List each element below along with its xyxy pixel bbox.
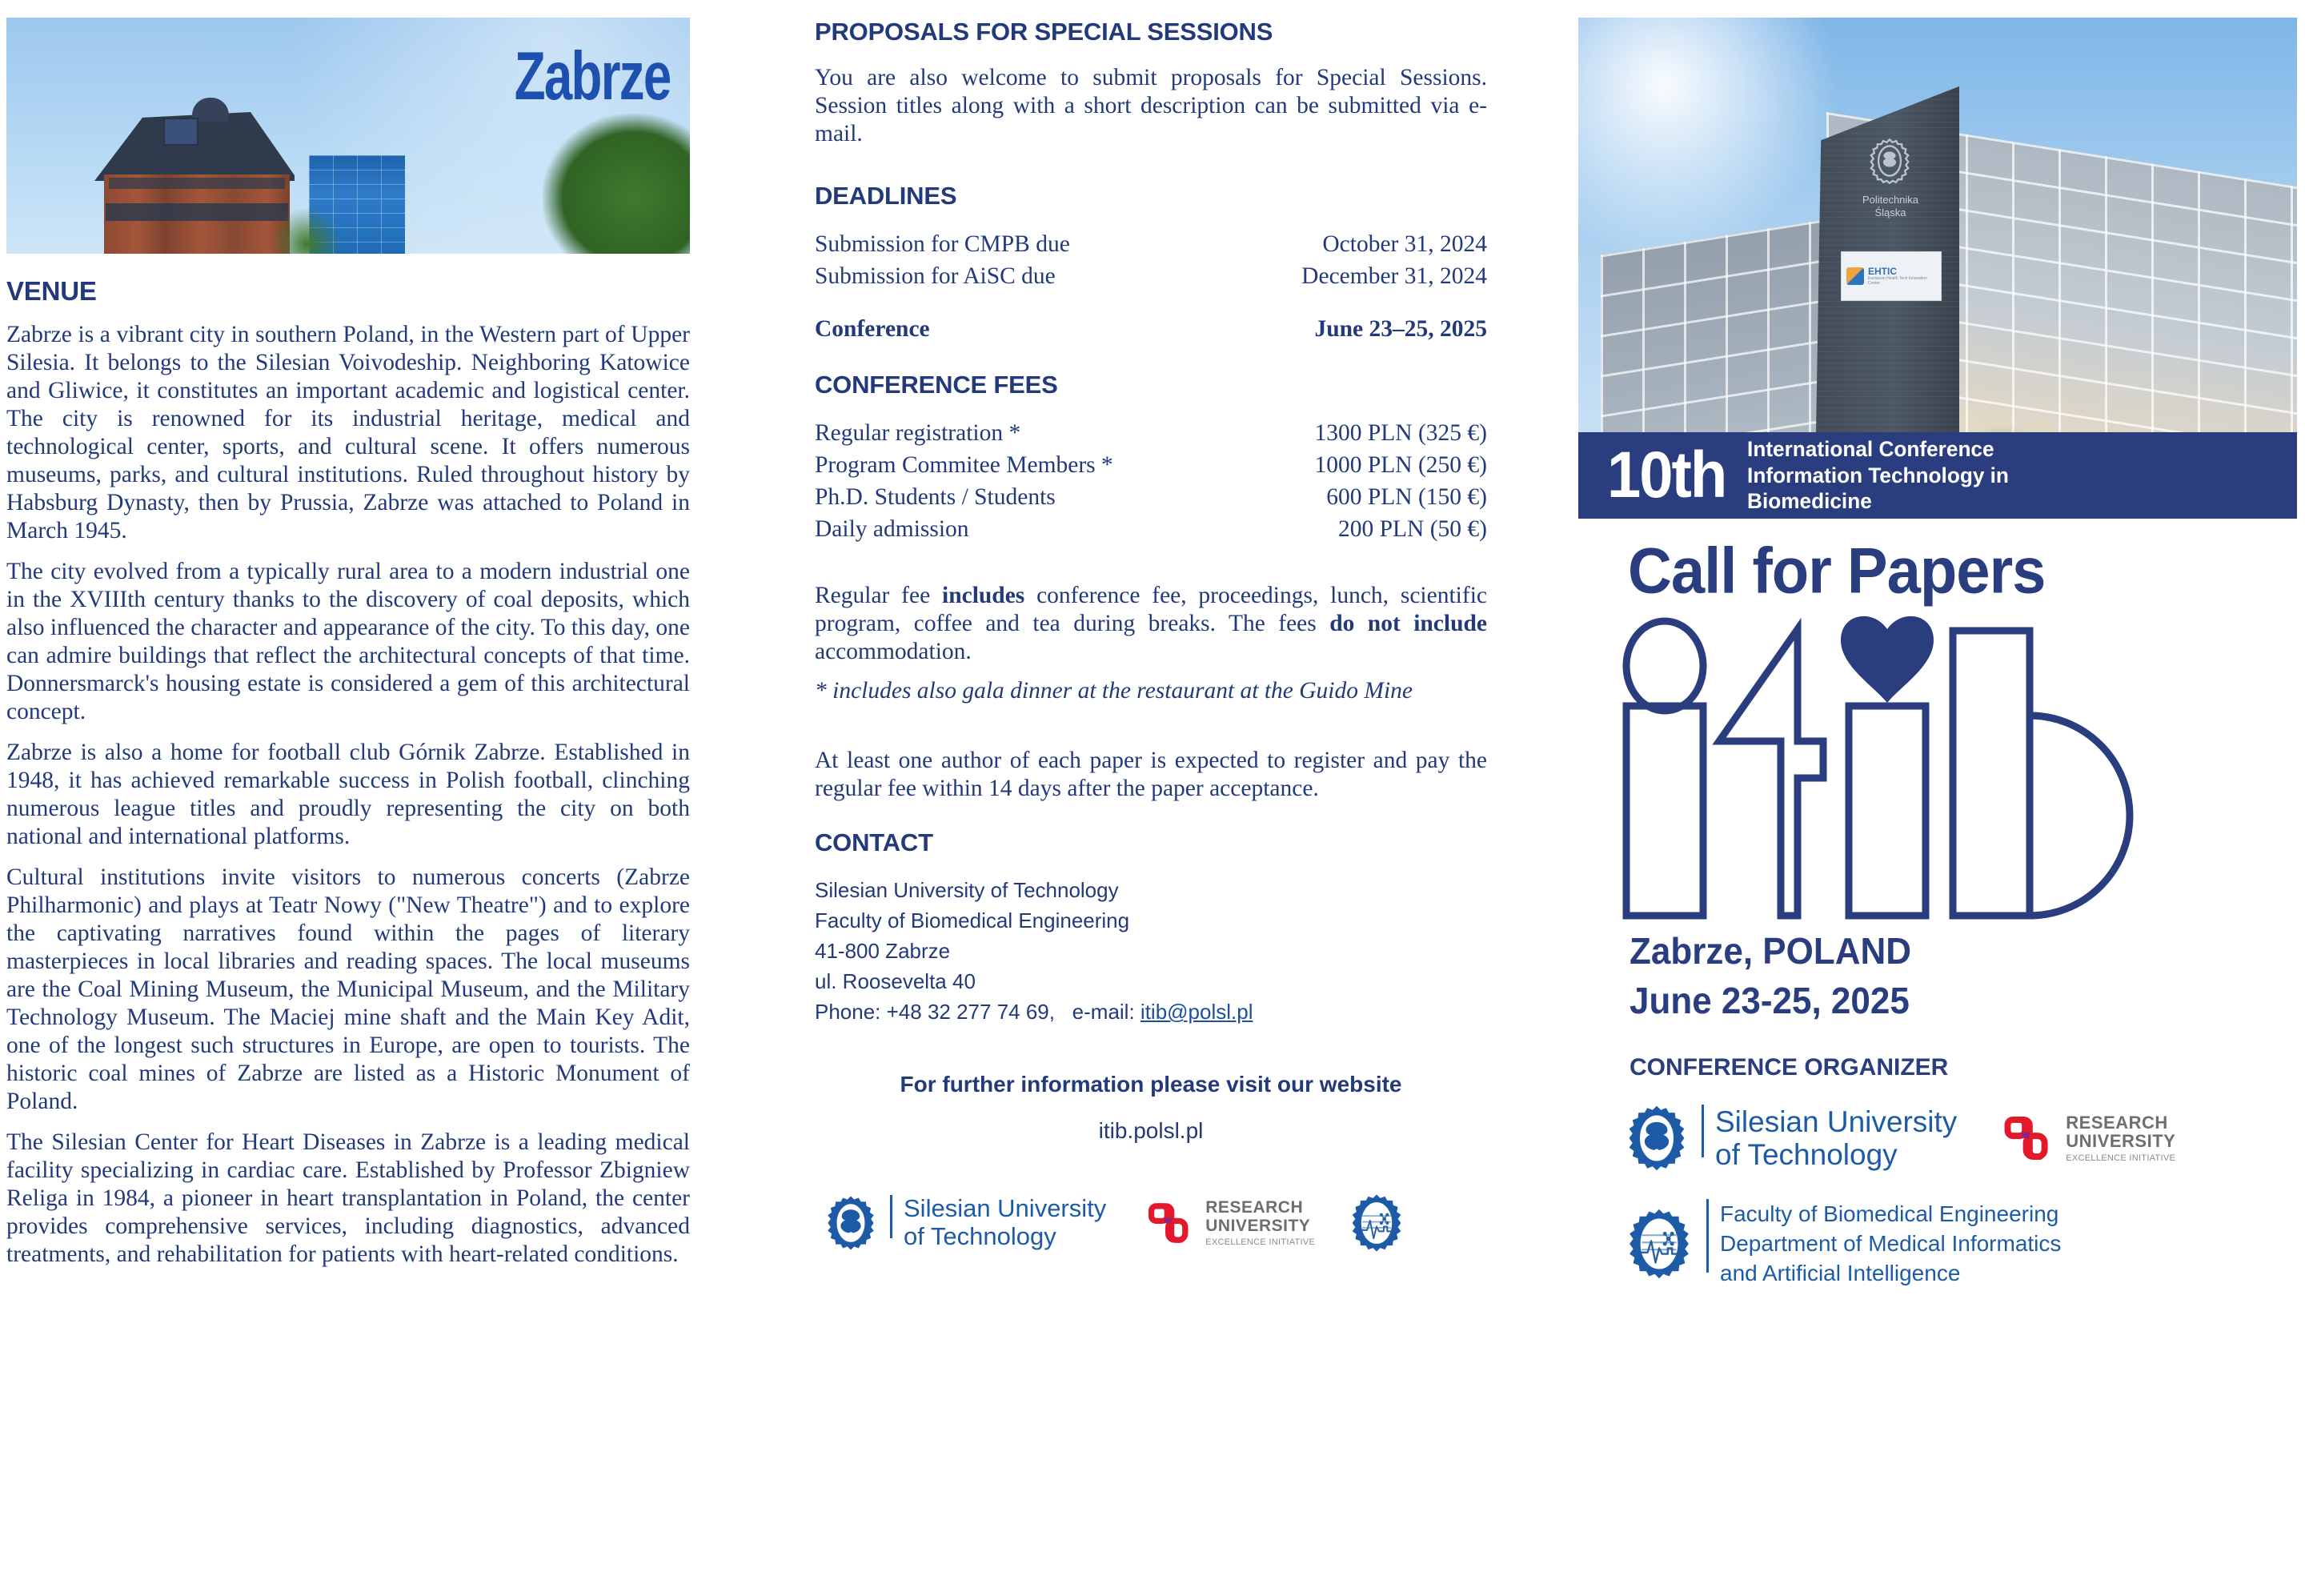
contact-line: Silesian University of Technology (815, 875, 1487, 905)
organizer-logo-group: Silesian University of Technology RESEAR… (1623, 1105, 2295, 1289)
building-sign-text: Politechnika Śląska (1842, 194, 1938, 220)
itib-i-dot-outline (1626, 621, 1703, 711)
sut-logo-line2: of Technology (1715, 1138, 1957, 1171)
fee-row: Regular registration * 1300 PLN (325 €) (815, 417, 1487, 449)
tower-lower-balcony-shape (106, 203, 288, 221)
fee-value: 1000 PLN (250 €) (1241, 449, 1487, 481)
gala-dinner-note: * includes also gala dinner at the resta… (815, 677, 1487, 705)
venue-paragraph: Cultural institutions invite visitors to… (6, 864, 690, 1116)
venue-paragraph-list: Zabrze is a vibrant city in southern Pol… (6, 321, 690, 1269)
fee-row: Ph.D. Students / Students 600 PLN (150 €… (815, 481, 1487, 513)
deadlines-heading: DEADLINES (815, 182, 1487, 211)
includes-text-3: accommodation. (815, 639, 972, 664)
fee-includes-paragraph: Regular fee includes conference fee, pro… (815, 582, 1487, 666)
author-registration-note: At least one author of each paper is exp… (815, 747, 1487, 803)
fees-table: Regular registration * 1300 PLN (325 €) … (815, 417, 1487, 545)
conference-title: International Conference Information Tec… (1747, 436, 2009, 515)
deadline-row: Submission for AiSC due December 31, 202… (815, 260, 1487, 292)
edition-number: 10th (1607, 443, 1726, 508)
contact-heading: CONTACT (815, 828, 1487, 857)
proposals-body: You are also welcome to submit proposals… (815, 64, 1487, 148)
venue-paragraph: Zabrze is a vibrant city in southern Pol… (6, 321, 690, 545)
deadline-label: Submission for CMPB due (815, 228, 1204, 260)
ru-line2: UNIVERSITY (1205, 1217, 1315, 1235)
ru-sub: EXCELLENCE INITIATIVE (2066, 1153, 2175, 1163)
faculty-logo-text: Faculty of Biomedical Engineering Depart… (1720, 1199, 2061, 1289)
sut-logo-line1: Silesian University (1715, 1105, 1957, 1138)
ru-line1: RESEARCH (1205, 1199, 1315, 1217)
silesian-gear-eagle-icon (1623, 1105, 1690, 1172)
brochure-page: Zabrze VENUE Zabrze is a vibrant city in… (0, 0, 2305, 1596)
contact-block: Silesian University of Technology Facult… (815, 875, 1487, 1027)
conference-title-bar: 10th International Conference Informatio… (1578, 432, 2297, 519)
fee-row: Program Commitee Members * 1000 PLN (250… (815, 449, 1487, 481)
logo-research-university: RESEARCH UNIVERSITY EXCELLENCE INITIATIV… (1143, 1197, 1315, 1249)
conference-date-table: Conference June 23–25, 2025 (815, 313, 1487, 345)
ru-sub: EXCELLENCE INITIATIVE (1205, 1237, 1315, 1247)
ru-line1: RESEARCH (2066, 1113, 2175, 1132)
conference-row: Conference June 23–25, 2025 (815, 313, 1487, 345)
location-and-dates: Zabrze, POLAND June 23-25, 2025 (1630, 928, 1911, 1026)
fee-value: 200 PLN (50 €) (1241, 513, 1487, 545)
logo-silesian-university: Silesian University of Technology (823, 1195, 1106, 1251)
contact-line: Faculty of Biomedical Engineering (815, 905, 1487, 936)
logo-silesian-university: Silesian University of Technology (1623, 1105, 1957, 1172)
ehtic-sign-plate: EHTIC European Health Tech Innovation Ce… (1841, 251, 1942, 301)
website-block: For further information please visit our… (815, 1072, 1487, 1144)
middle-logo-strip: Silesian University of Technology RESEAR… (815, 1193, 1487, 1253)
logo-divider (1706, 1199, 1709, 1273)
includes-bold-1: includes (942, 583, 1024, 608)
call-for-papers-title: Call for Papers (1628, 534, 2045, 608)
ehtic-logo-icon (1846, 267, 1864, 285)
ehtic-plate-sub: European Health Tech Innovation Center (1868, 277, 1936, 286)
logo-research-university: RESEARCH UNIVERSITY EXCELLENCE INITIATIV… (1998, 1109, 2175, 1167)
logo-divider (1702, 1105, 1704, 1157)
faculty-line3: and Artificial Intelligence (1720, 1258, 2061, 1288)
itib-heart-dot-icon (1841, 616, 1934, 703)
itib-b-bowl-outline (2030, 716, 2130, 916)
itib-t-outline (1719, 629, 1823, 916)
fee-value: 600 PLN (150 €) (1241, 481, 1487, 513)
logo-divider (890, 1195, 892, 1238)
dates-text: June 23-25, 2025 (1630, 977, 1911, 1026)
phone-label: Phone: +48 32 277 74 69, (815, 1000, 1055, 1024)
deadline-row: Submission for CMPB due October 31, 2024 (815, 228, 1487, 260)
right-column: Politechnika Śląska EHTIC European Healt… (1578, 18, 2297, 1586)
location-text: Zabrze, POLAND (1630, 928, 1911, 976)
conference-title-line1: International Conference (1747, 436, 2009, 463)
zabrze-photo: Zabrze (6, 18, 690, 254)
fees-heading: CONFERENCE FEES (815, 371, 1487, 399)
contact-phone-line: Phone: +48 32 277 74 69, e-mail: itib@po… (815, 996, 1487, 1027)
research-university-mark-icon (1998, 1109, 2056, 1167)
building-sign-line1: Politechnika (1842, 194, 1938, 207)
itib-b-stem-outline (1953, 631, 2030, 916)
email-label: e-mail: (1072, 1000, 1135, 1024)
faculty-biomedical-gear-icon (1347, 1193, 1406, 1253)
proposals-heading: PROPOSALS FOR SPECIAL SESSIONS (815, 18, 1487, 46)
website-url-text[interactable]: itib.polsl.pl (815, 1118, 1487, 1144)
logo-faculty-biomedical: Faculty of Biomedical Engineering Depart… (1623, 1199, 2295, 1289)
deadline-value: December 31, 2024 (1204, 260, 1487, 292)
tower-window-shape (163, 118, 198, 146)
small-tree-shape (271, 207, 343, 254)
sut-logo-line2: of Technology (904, 1223, 1106, 1251)
itib-i-stem-outline (1626, 706, 1703, 916)
zabrze-photo-caption: Zabrze (515, 37, 671, 115)
sut-logo-text: Silesian University of Technology (1715, 1105, 1957, 1172)
research-university-mark-icon (1143, 1197, 1196, 1249)
faculty-biomedical-gear-icon (1623, 1208, 1695, 1280)
faculty-line1: Faculty of Biomedical Engineering (1720, 1199, 2061, 1229)
deadline-value: October 31, 2024 (1204, 228, 1487, 260)
conference-organizer-heading: CONFERENCE ORGANIZER (1630, 1054, 1948, 1081)
sut-logo-line1: Silesian University (904, 1195, 1106, 1223)
contact-line: 41-800 Zabrze (815, 936, 1487, 966)
deadlines-table: Submission for CMPB due October 31, 2024… (815, 228, 1487, 292)
conference-title-line2: Information Technology in (1747, 463, 2009, 489)
includes-text-1: Regular fee (815, 583, 942, 608)
venue-paragraph: The Silesian Center for Heart Diseases i… (6, 1129, 690, 1269)
conference-title-line3: Biomedicine (1747, 488, 2009, 515)
includes-bold-2: do not include (1329, 611, 1487, 636)
contact-email-link[interactable]: itib@polsl.pl (1140, 1000, 1253, 1024)
conference-label: Conference (815, 313, 1084, 345)
sut-logo-text: Silesian University of Technology (904, 1195, 1106, 1250)
itib-i2-stem-outline (1849, 706, 1926, 916)
fee-label: Regular registration * (815, 417, 1241, 449)
fee-value: 1300 PLN (325 €) (1241, 417, 1487, 449)
building-sign-line2: Śląska (1842, 207, 1938, 219)
left-column: Zabrze VENUE Zabrze is a vibrant city in… (6, 18, 690, 1586)
middle-column: PROPOSALS FOR SPECIAL SESSIONS You are a… (815, 18, 1487, 1586)
tower-upper-balcony-shape (109, 178, 285, 189)
conference-date: June 23–25, 2025 (1084, 313, 1487, 345)
ru-line2: UNIVERSITY (2066, 1132, 2175, 1150)
fee-label: Daily admission (815, 513, 1241, 545)
fee-row: Daily admission 200 PLN (50 €) (815, 513, 1487, 545)
ehtic-text-block: EHTIC European Health Tech Innovation Ce… (1868, 267, 1936, 286)
venue-paragraph: The city evolved from a typically rural … (6, 558, 690, 726)
fee-label: Program Commitee Members * (815, 449, 1241, 481)
fee-label: Ph.D. Students / Students (815, 481, 1241, 513)
deadline-label: Submission for AiSC due (815, 260, 1204, 292)
itib-logo-wordmark (1617, 612, 2257, 924)
venue-heading: VENUE (6, 276, 690, 307)
tree-shape (543, 114, 690, 254)
website-cta-text: For further information please visit our… (815, 1072, 1487, 1097)
faculty-line2: Department of Medical Informatics (1720, 1229, 2061, 1258)
contact-line: ul. Roosevelta 40 (815, 966, 1487, 996)
venue-paragraph: Zabrze is also a home for football club … (6, 739, 690, 851)
politechnika-slaska-gear-icon (1866, 138, 1913, 184)
silesian-university-building-photo: Politechnika Śląska EHTIC European Healt… (1578, 18, 2297, 480)
silesian-gear-eagle-icon (823, 1195, 879, 1251)
organizer-logo-row-top: Silesian University of Technology RESEAR… (1623, 1105, 2295, 1172)
